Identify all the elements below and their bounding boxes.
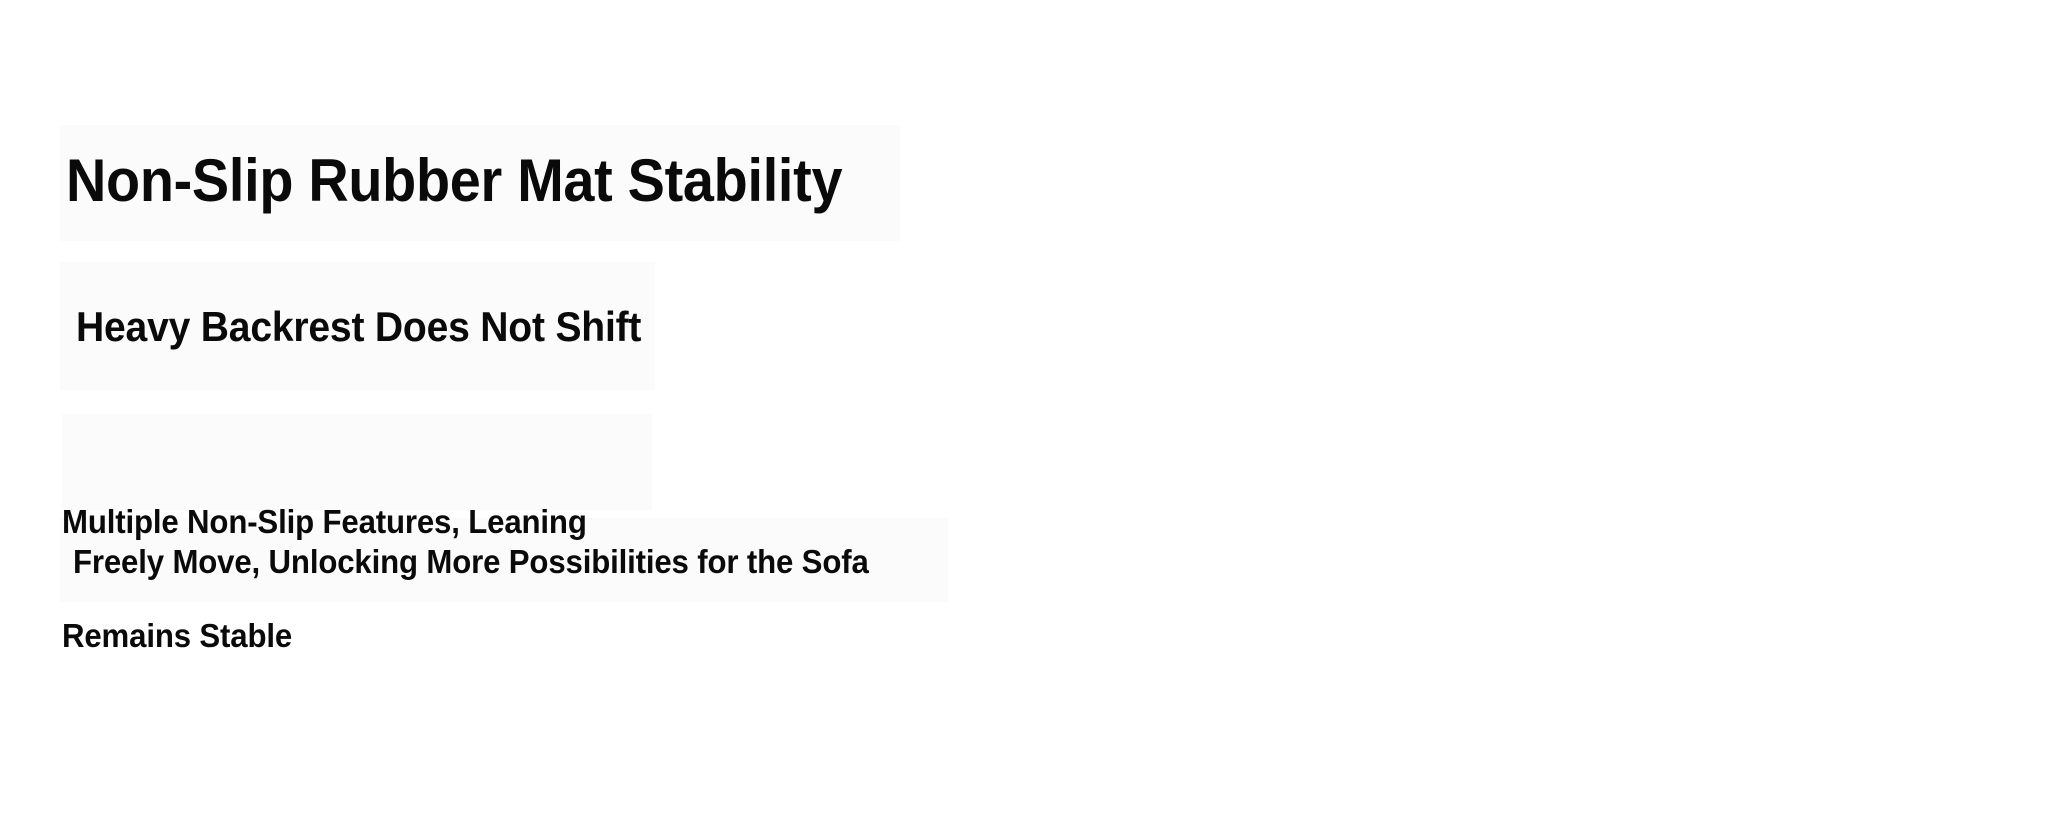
feature-text-line-2: Remains Stable [62,617,587,655]
page-title: Non-Slip Rubber Mat Stability [66,142,842,220]
subheading: Heavy Backrest Does Not Shift [76,300,641,354]
promo-text-panel: Non-Slip Rubber Mat Stability Heavy Back… [0,0,2048,832]
feature-text-line-1: Multiple Non-Slip Features, Leaning [62,503,587,541]
closing-text: Freely Move, Unlocking More Possibilitie… [73,543,869,581]
